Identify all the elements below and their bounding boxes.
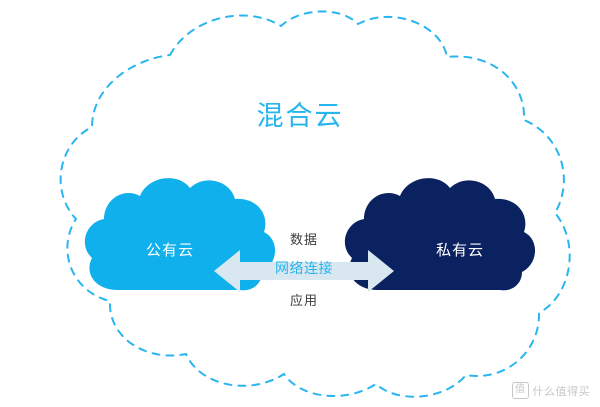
connector-bottom-label: 应用 (268, 294, 340, 307)
watermark: 值 什么值得买 (512, 382, 591, 399)
private-cloud-label: 私有云 (400, 243, 520, 258)
connector-middle-label: 网络连接 (258, 261, 350, 275)
watermark-badge-icon: 值 (512, 382, 529, 399)
hybrid-cloud-diagram: 混合云 公有云 私有云 数据 网络连接 应用 值 什么值得买 (0, 0, 600, 407)
connector-top-label: 数据 (268, 233, 340, 246)
watermark-text: 什么值得买 (533, 383, 591, 399)
public-cloud-label: 公有云 (110, 243, 230, 258)
hybrid-cloud-title: 混合云 (0, 103, 600, 130)
diagram-canvas (0, 0, 600, 407)
